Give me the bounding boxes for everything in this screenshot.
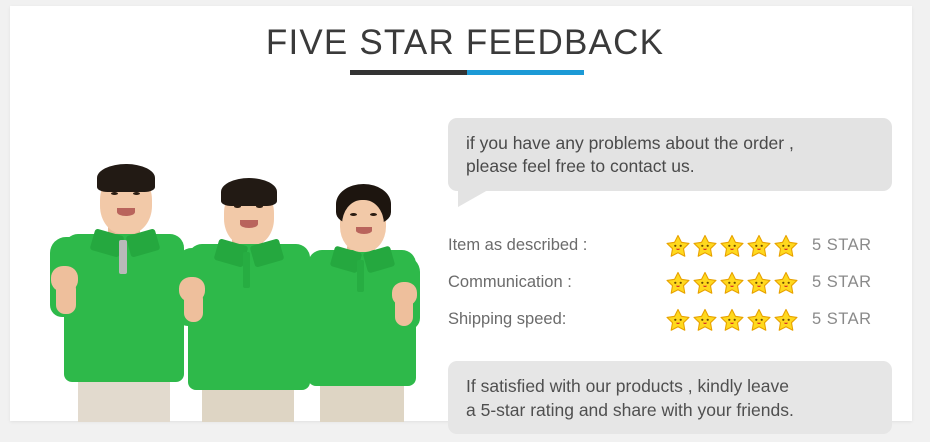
mouth — [240, 220, 258, 228]
star-icon — [774, 271, 798, 294]
placket — [119, 240, 127, 274]
star-icon — [666, 234, 690, 257]
speech-bubble-tail — [458, 190, 488, 207]
star-icon — [747, 308, 771, 331]
rating-value: 5 STAR — [812, 310, 872, 329]
star-rating — [666, 234, 812, 257]
bubble-line-1: if you have any problems about the order… — [466, 132, 876, 155]
contact-speech-bubble: if you have any problems about the order… — [448, 118, 892, 191]
feedback-banner: FIVE STAR FEEDBACK — [0, 0, 930, 442]
star-icon — [693, 308, 717, 331]
rating-label: Shipping speed: — [448, 310, 666, 329]
underline-blue-segment — [467, 70, 584, 75]
ratings-list: Item as described : 5 STAR Communication… — [448, 227, 892, 338]
hair — [97, 164, 155, 192]
star-icon — [666, 271, 690, 294]
eye-right — [256, 205, 263, 208]
mouth — [117, 208, 135, 216]
rating-label: Item as described : — [448, 236, 666, 255]
person-right — [294, 130, 432, 422]
star-icon — [720, 271, 744, 294]
mouth — [356, 227, 372, 234]
footer-line-2: a 5-star rating and share with your frie… — [466, 398, 878, 422]
underline-dark-segment — [350, 70, 467, 75]
star-icon — [720, 308, 744, 331]
eye-right — [370, 213, 377, 216]
title-block: FIVE STAR FEEDBACK — [0, 22, 930, 64]
star-icon — [666, 308, 690, 331]
placket — [357, 260, 364, 292]
star-icon — [747, 271, 771, 294]
star-rating — [666, 308, 812, 331]
left-fist — [51, 266, 78, 292]
rating-label: Communication : — [448, 273, 666, 292]
hair — [221, 178, 277, 206]
eye-left — [234, 205, 241, 208]
left-fist — [179, 277, 205, 302]
footer-line-1: If satisfied with our products , kindly … — [466, 374, 878, 398]
rating-row: Communication : 5 STAR — [448, 264, 892, 301]
star-icon — [720, 234, 744, 257]
bubble-line-2: please feel free to contact us. — [466, 155, 876, 178]
rating-value: 5 STAR — [812, 236, 872, 255]
right-fist — [392, 282, 417, 306]
placket — [243, 252, 250, 288]
star-icon — [774, 234, 798, 257]
face — [342, 200, 384, 252]
rating-row: Shipping speed: 5 STAR — [448, 301, 892, 338]
review-request-box: If satisfied with our products , kindly … — [448, 361, 892, 434]
star-icon — [774, 308, 798, 331]
star-icon — [693, 234, 717, 257]
eye-left — [350, 213, 357, 216]
star-icon — [693, 271, 717, 294]
team-photo — [32, 110, 432, 422]
star-icon — [747, 234, 771, 257]
page-title: FIVE STAR FEEDBACK — [0, 22, 930, 64]
star-rating — [666, 271, 812, 294]
eye-right — [133, 192, 140, 195]
rating-row: Item as described : 5 STAR — [448, 227, 892, 264]
eye-left — [111, 192, 118, 195]
title-underline — [350, 70, 584, 75]
feedback-content: if you have any problems about the order… — [448, 118, 892, 434]
rating-value: 5 STAR — [812, 273, 872, 292]
